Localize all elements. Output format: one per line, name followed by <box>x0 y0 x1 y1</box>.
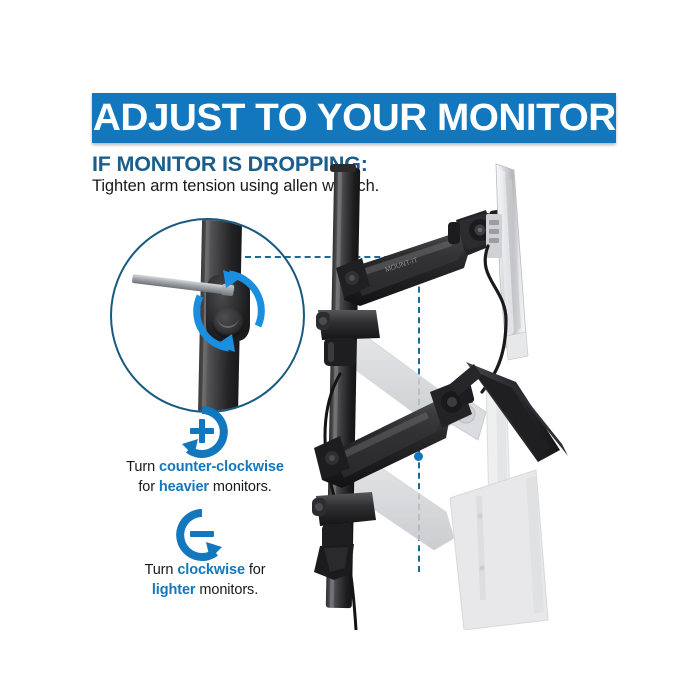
bullet-caption-heavier: Turn counter-clockwise for heavier monit… <box>90 458 320 497</box>
product-illustration: MOUNT-IT <box>300 160 680 630</box>
bullet-caption-lighter: Turn clockwise for lighter monitors. <box>90 561 320 600</box>
circular-arrow-plus-icon <box>176 406 228 458</box>
caption-line-1: Turn counter-clockwise <box>126 459 284 475</box>
caption-line-1: Turn clockwise for <box>145 562 266 578</box>
caption-bold-heavier: heavier <box>159 479 209 495</box>
caption-line-2: for heavier monitors. <box>138 479 271 495</box>
ghost-dropped-positions <box>340 332 548 630</box>
page-title: ADJUST TO YOUR MONITOR <box>93 99 616 137</box>
base-foot <box>314 544 354 580</box>
circular-arrow-minus-icon <box>176 509 228 561</box>
magnifier-callout <box>110 218 305 413</box>
caption-bold-clockwise: clockwise <box>177 562 245 578</box>
header-banner: ADJUST TO YOUR MONITOR <box>92 93 616 143</box>
lower-clamp-bracket <box>312 492 376 550</box>
caption-bold-lighter: lighter <box>152 582 196 598</box>
rotation-arrows-icon <box>186 268 272 354</box>
infographic-root: ADJUST TO YOUR MONITOR IF MONITOR IS DRO… <box>0 0 700 700</box>
caption-bold-counter-clockwise: counter-clockwise <box>159 459 284 475</box>
caption-line-2: lighter monitors. <box>152 582 258 598</box>
